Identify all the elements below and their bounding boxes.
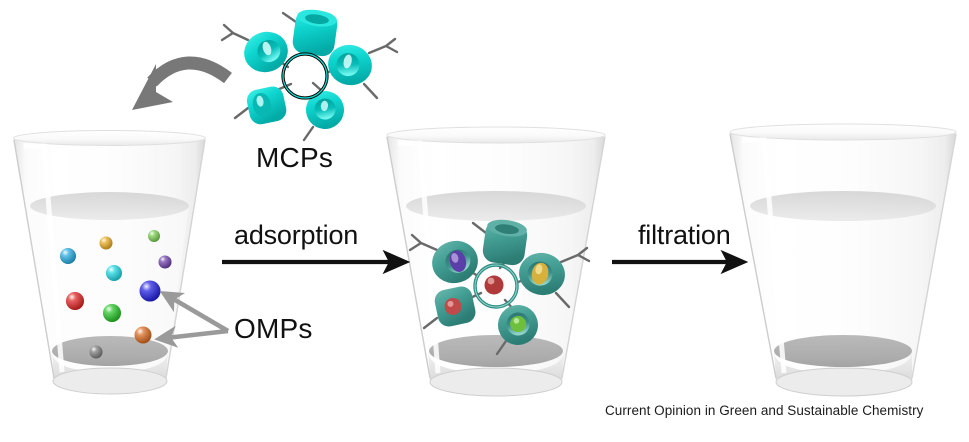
- beaker-sediment-disc: [52, 336, 168, 366]
- beaker3-foot: [776, 368, 912, 396]
- figure-svg: [0, 0, 969, 442]
- label-filtration: filtration: [638, 222, 731, 249]
- beaker-contaminated: [14, 131, 206, 395]
- omp-blue: [140, 281, 161, 302]
- omp-red: [66, 292, 84, 310]
- label-mcps: MCPs: [256, 144, 333, 172]
- label-omps: OMPs: [234, 315, 313, 343]
- mcp-cluster-bright: [222, 7, 397, 140]
- beaker-rim: [14, 131, 206, 146]
- mcp-ring-bottom: [304, 89, 346, 131]
- figure-canvas: adsorption filtration MCPs OMPs Current …: [0, 0, 969, 442]
- omp-purple: [159, 256, 172, 269]
- journal-caption: Current Opinion in Green and Sustainable…: [605, 404, 923, 418]
- beaker-water-surface: [30, 192, 189, 220]
- mcp-addition-arrow: [132, 63, 228, 110]
- omp-turquoise: [106, 265, 122, 281]
- mcp-central-ring-bright: [283, 54, 327, 98]
- omp-gray: [90, 346, 103, 359]
- beaker-clean: [730, 124, 956, 396]
- omp-green: [103, 304, 121, 322]
- mcp-ring-lower-left: [245, 84, 288, 126]
- beaker2-water-surface: [406, 191, 586, 221]
- omp-cyan-blue: [60, 248, 76, 264]
- label-adsorption: adsorption: [234, 222, 358, 249]
- beaker2-foot: [430, 368, 562, 396]
- omp-orange: [135, 327, 152, 344]
- omp-gold: [100, 237, 113, 250]
- beaker-adsorbing: [387, 127, 605, 396]
- omp-lightgreen: [148, 230, 160, 242]
- beaker3-water-surface: [750, 191, 936, 221]
- beaker-foot: [53, 368, 167, 394]
- beaker3-sediment-disc: [774, 335, 912, 367]
- mcp-ring-top-empty: [481, 217, 529, 266]
- mcp-ring-top: [291, 7, 339, 57]
- beaker2-sediment-disc: [429, 335, 563, 367]
